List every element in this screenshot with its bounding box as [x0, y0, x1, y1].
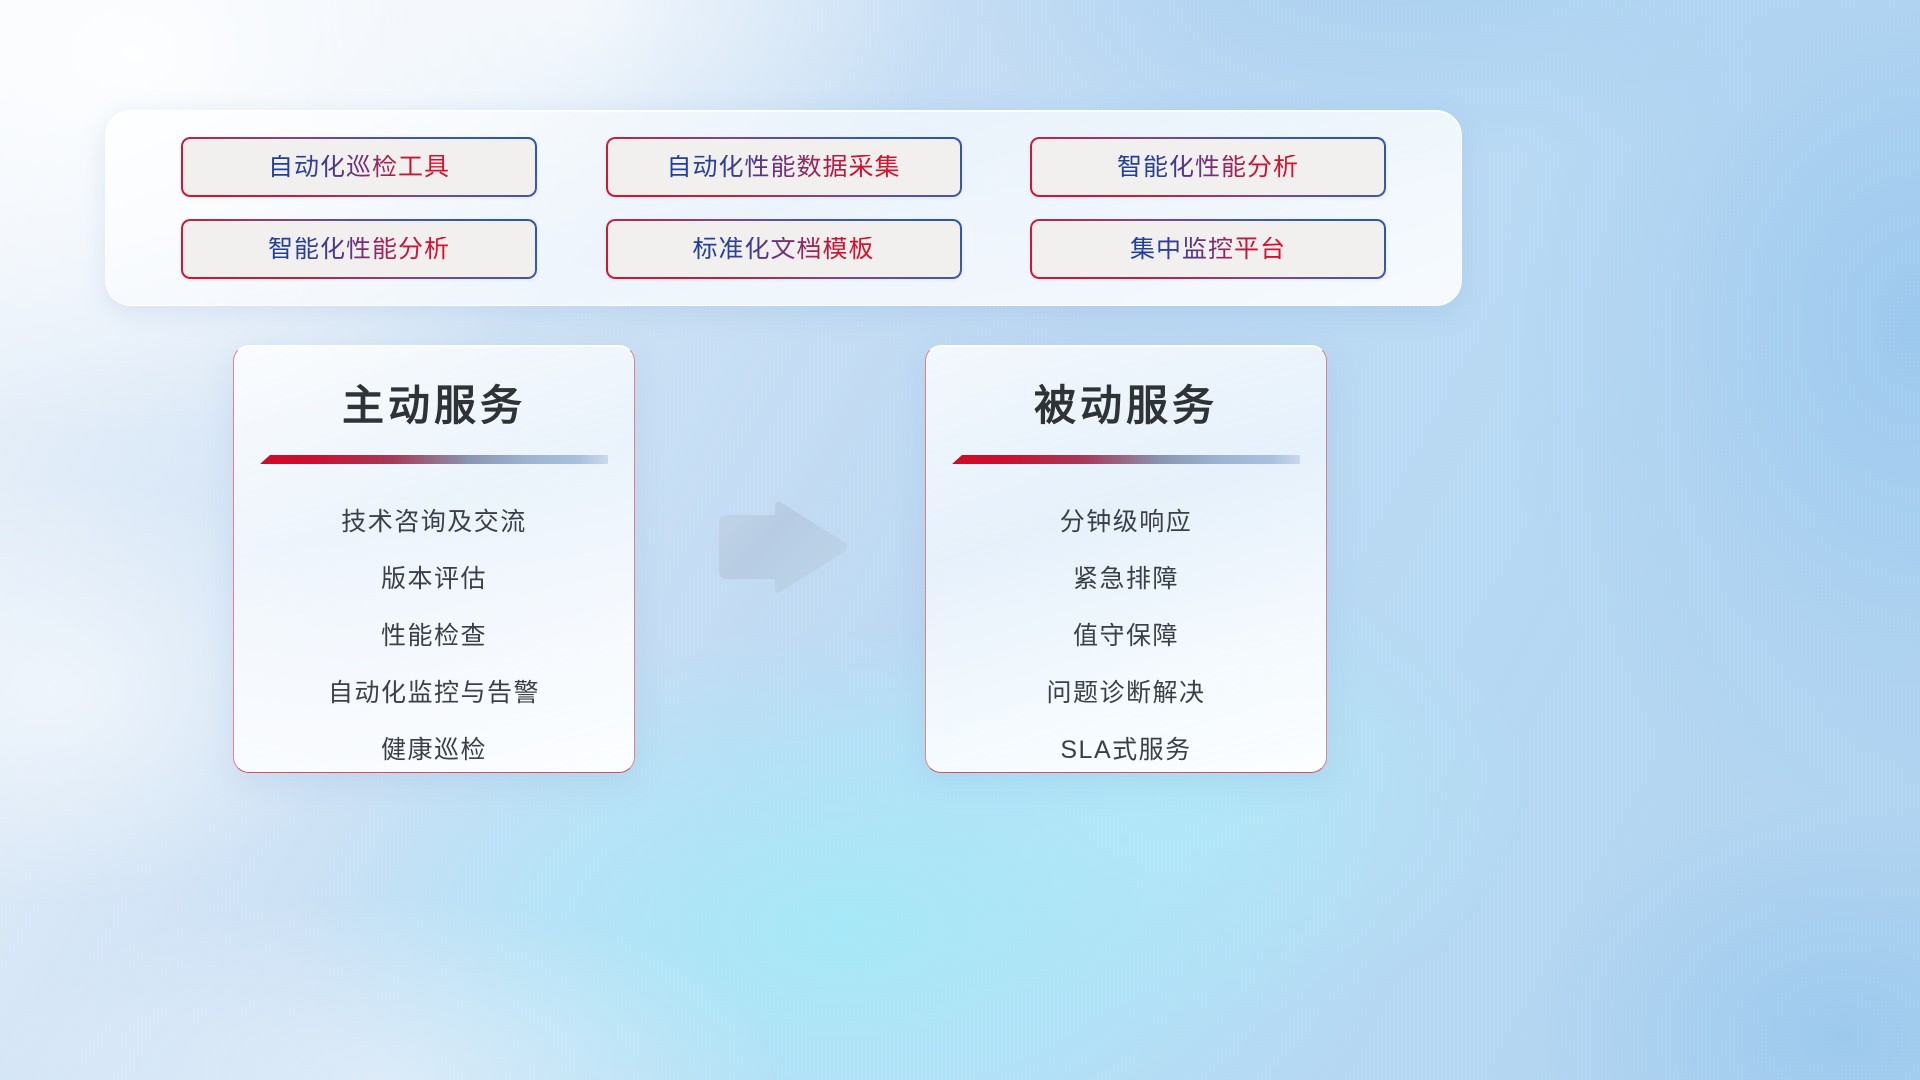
capability-row-2: 智能化性能分析 标准化文档模板 集中监控平台: [181, 219, 1386, 279]
capability-chip-label: 自动化巡检工具: [268, 155, 450, 180]
capability-chip-intelligent-performance-analysis-2[interactable]: 智能化性能分析: [181, 219, 537, 279]
capability-chip-label: 标准化文档模板: [692, 237, 874, 262]
service-card-passive: 被动服务 分钟级响应 紧急排障 值守保障 问题诊断解决 SLA式服务: [925, 345, 1327, 773]
service-card-divider: [952, 455, 1300, 464]
capability-chip-intelligent-performance-analysis[interactable]: 智能化性能分析: [1030, 137, 1386, 197]
service-list-item: 值守保障: [1073, 616, 1179, 652]
divider-gradient-bar: [952, 455, 1300, 464]
service-card-title: 主动服务: [342, 372, 526, 433]
service-list-item: 问题诊断解决: [1046, 673, 1205, 709]
service-list-item: 分钟级响应: [1060, 502, 1193, 538]
service-card-divider: [260, 455, 608, 464]
divider-gradient-bar: [260, 455, 608, 464]
service-item-list: 分钟级响应 紧急排障 值守保障 问题诊断解决 SLA式服务: [926, 502, 1326, 766]
capability-chip-label: 智能化性能分析: [1117, 155, 1299, 180]
service-list-item: 自动化监控与告警: [328, 673, 540, 709]
service-list-item: 紧急排障: [1073, 559, 1179, 595]
service-list-item: 健康巡检: [381, 730, 487, 766]
capability-chip-label: 集中监控平台: [1130, 237, 1286, 262]
service-list-item: SLA式服务: [1060, 730, 1191, 766]
capability-row-1: 自动化巡检工具 自动化性能数据采集 智能化性能分析: [181, 137, 1386, 197]
service-item-list: 技术咨询及交流 版本评估 性能检查 自动化监控与告警 健康巡检: [234, 502, 634, 766]
right-arrow-icon: [713, 497, 851, 597]
capability-chip-automated-inspection-tool[interactable]: 自动化巡检工具: [181, 137, 537, 197]
capability-chip-automated-performance-data-collection[interactable]: 自动化性能数据采集: [606, 137, 962, 197]
capability-chip-centralized-monitoring-platform[interactable]: 集中监控平台: [1030, 219, 1386, 279]
service-list-item: 性能检查: [381, 616, 487, 652]
service-list-item: 技术咨询及交流: [341, 502, 527, 538]
capability-chip-label: 智能化性能分析: [268, 237, 450, 262]
capability-chip-label: 自动化性能数据采集: [666, 155, 900, 180]
service-card-active: 主动服务 技术咨询及交流 版本评估 性能检查 自动化监控与告警 健康巡检: [233, 345, 635, 773]
capability-chip-standardized-document-template[interactable]: 标准化文档模板: [606, 219, 962, 279]
service-card-title: 被动服务: [1034, 372, 1218, 433]
service-list-item: 版本评估: [381, 559, 487, 595]
capability-panel: 自动化巡检工具 自动化性能数据采集 智能化性能分析 智能化性能分析 标准化文档模…: [105, 110, 1462, 306]
